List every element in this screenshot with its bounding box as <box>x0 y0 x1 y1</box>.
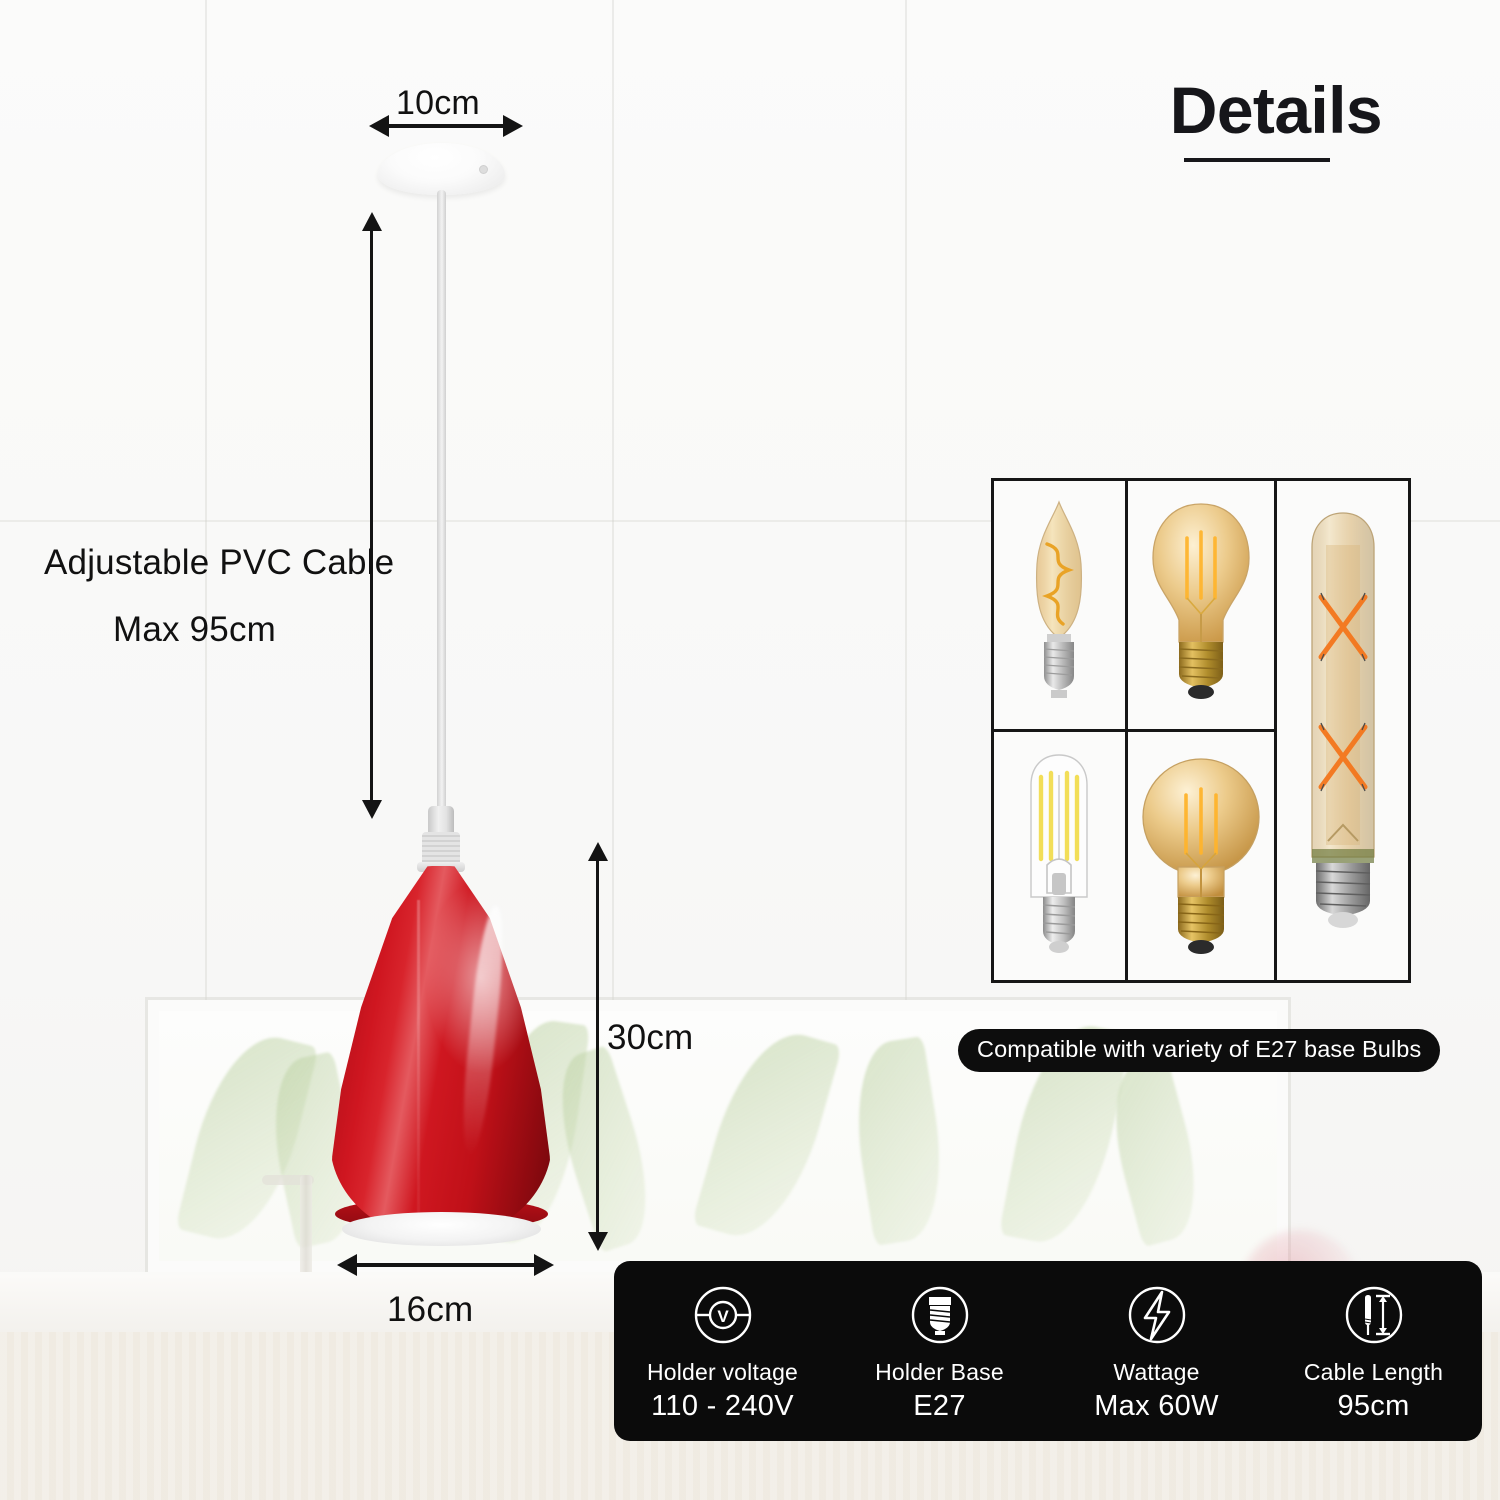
dim-arrowhead-down <box>362 800 382 819</box>
svg-text:V: V <box>717 1307 729 1326</box>
wall-panel-line <box>612 0 614 1010</box>
tubular-amber-bulb-icon <box>1304 505 1382 957</box>
bulb-base-icon <box>904 1279 976 1351</box>
globe-amber-bulb-icon <box>1140 747 1262 965</box>
lamp-holder <box>422 832 460 866</box>
spec-holder-voltage: V Holder voltage 110 - 240V <box>614 1279 831 1423</box>
voltmeter-icon: V <box>687 1279 759 1351</box>
product-infographic: 10cm Adjustable PVC Cable Max 95cm 30cm … <box>0 0 1500 1500</box>
spec-value: 95cm <box>1337 1390 1409 1423</box>
bulb-cell-tubular-clear <box>994 732 1125 980</box>
title-underline <box>1184 158 1330 162</box>
dim-arrowhead-right <box>503 115 523 137</box>
dim-arrowhead-left <box>337 1254 357 1276</box>
dim-arrowhead-up <box>588 842 608 861</box>
dim-label-cable-type: Adjustable PVC Cable <box>44 543 394 583</box>
spec-value: E27 <box>913 1390 966 1423</box>
page-title: Details <box>1170 72 1382 148</box>
compatible-bulbs-grid <box>991 478 1411 983</box>
dim-arrow-shade-height-line <box>596 858 599 1238</box>
dim-arrowhead-down <box>588 1232 608 1251</box>
shade-inner-rim <box>342 1212 541 1246</box>
shade-highlight-seam <box>417 900 420 1230</box>
dim-label-cable-max: Max 95cm <box>113 610 276 650</box>
lightning-icon <box>1121 1279 1193 1351</box>
bulb-cell-tubular-amber <box>1277 481 1408 980</box>
spec-label: Wattage <box>1113 1359 1199 1386</box>
bulb-cell-globe-amber <box>1128 732 1274 980</box>
dim-label-shade-height: 30cm <box>607 1018 693 1058</box>
bulb-cell-candle-flame <box>994 481 1125 729</box>
spec-label: Holder voltage <box>647 1359 798 1386</box>
candle-flame-bulb-icon <box>1013 498 1105 713</box>
spec-label: Holder Base <box>875 1359 1004 1386</box>
plant-leaf <box>692 1020 843 1250</box>
spec-value: Max 60W <box>1094 1390 1219 1423</box>
dim-arrow-canopy-line <box>385 124 507 128</box>
compatibility-badge: Compatible with variety of E27 base Bulb… <box>958 1029 1440 1072</box>
spec-cable-length: Cable Length 95cm <box>1265 1279 1482 1423</box>
plant-leaf <box>844 1036 954 1246</box>
dim-arrow-cable-line <box>370 228 373 806</box>
spec-holder-base: Holder Base E27 <box>831 1279 1048 1423</box>
cable-length-icon <box>1338 1279 1410 1351</box>
dim-arrowhead-right <box>534 1254 554 1276</box>
spec-wattage: Wattage Max 60W <box>1048 1279 1265 1423</box>
dim-arrow-shade-width-line <box>353 1263 538 1267</box>
spec-value: 110 - 240V <box>651 1390 794 1423</box>
pvc-cable <box>437 190 446 815</box>
a19-amber-bulb-icon <box>1145 496 1257 714</box>
bulb-cell-a19-amber <box>1128 481 1274 729</box>
wall-panel-line <box>205 0 207 1010</box>
dim-arrowhead-left <box>369 115 389 137</box>
canopy-screw <box>479 165 488 174</box>
spec-label: Cable Length <box>1304 1359 1443 1386</box>
dim-label-shade-width: 16cm <box>387 1290 473 1330</box>
dim-label-canopy-width: 10cm <box>396 84 480 123</box>
wall-panel-line <box>905 0 907 1010</box>
dim-arrowhead-up <box>362 212 382 231</box>
tubular-clear-bulb-icon <box>1019 747 1099 965</box>
specification-bar: V Holder voltage 110 - 240V Holder Base … <box>614 1261 1482 1441</box>
